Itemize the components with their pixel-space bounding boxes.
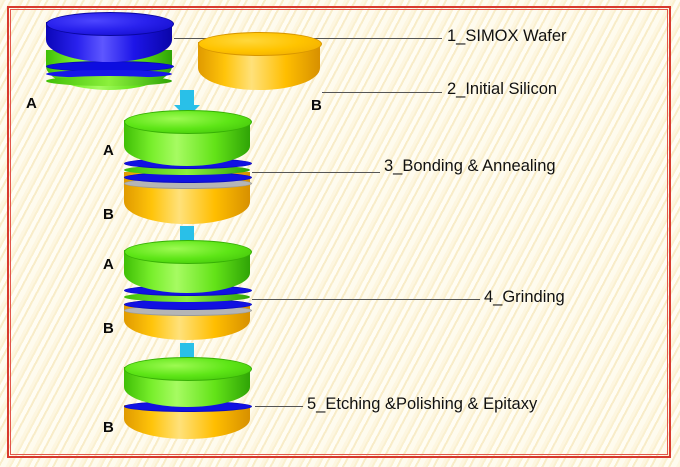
blue-top-ellipse [46, 12, 174, 36]
green-stripe-lower [46, 76, 172, 86]
leader-step4 [252, 299, 480, 300]
caption-step4: 4_Grinding [484, 288, 565, 307]
caption-step1: 1_SIMOX Wafer [447, 27, 567, 46]
wafer-step5-green-layer [124, 367, 250, 407]
green-top-ellipse [124, 240, 252, 264]
label-b-step2: B [311, 97, 322, 114]
wafer-step4-green-layer [124, 250, 250, 293]
label-b-step3: B [103, 206, 114, 223]
leader-step2 [322, 92, 442, 93]
label-a-step3: A [103, 142, 114, 159]
wafer-step3 [124, 120, 250, 226]
green-top-ellipse [124, 110, 252, 134]
label-b-step4: B [103, 320, 114, 337]
caption-step2: 2_Initial Silicon [447, 80, 557, 99]
caption-step3: 3_Bonding & Annealing [384, 157, 556, 176]
yellow-top-ellipse [198, 32, 322, 56]
wafer-step1 [46, 22, 172, 96]
wafer-step1-blue-layer [46, 22, 172, 62]
wafer-step2 [198, 42, 320, 104]
label-a-step4: A [103, 256, 114, 273]
wafer-step2-yellow-layer [198, 42, 320, 90]
arrow-shaft [180, 90, 194, 106]
diagram-canvas: A 1_SIMOX Wafer B 2_Initial Silicon A B [0, 0, 680, 467]
wafer-step4 [124, 250, 250, 340]
wafer-step3-green-layer [124, 120, 250, 166]
green-top-ellipse [124, 357, 252, 381]
leader-step3 [252, 172, 380, 173]
caption-step5: 5_Etching &Polishing & Epitaxy [307, 395, 537, 414]
leader-step5 [255, 406, 303, 407]
wafer-step5 [124, 367, 250, 439]
label-b-step5: B [103, 419, 114, 436]
label-a-step1: A [26, 95, 37, 112]
